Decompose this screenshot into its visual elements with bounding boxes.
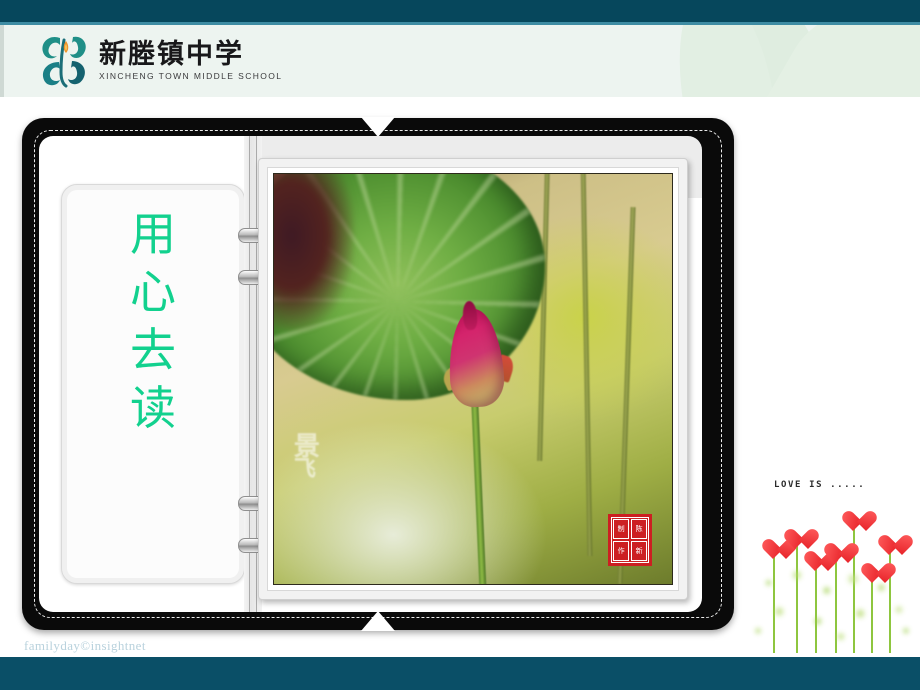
vertical-char: 心 bbox=[130, 269, 176, 315]
butterfly-logo-icon bbox=[36, 32, 90, 90]
heart-flower-icon bbox=[824, 544, 848, 566]
footer-bar bbox=[0, 657, 920, 690]
vertical-char: 去 bbox=[130, 327, 176, 373]
photo-mat: 景 飞 制 陈 作 新 bbox=[267, 167, 679, 591]
header-left-edge bbox=[0, 25, 4, 97]
heart-flower-icon bbox=[762, 540, 786, 562]
photo-dark-corner bbox=[273, 173, 354, 330]
heart-flowers-decoration: LOVE IS ..... bbox=[742, 462, 920, 658]
photo-watermark: 景 飞 bbox=[294, 436, 517, 480]
vertical-char: 用 bbox=[130, 211, 176, 257]
seal-char: 作 bbox=[613, 541, 629, 561]
seal-char: 制 bbox=[613, 519, 629, 539]
love-is-label: LOVE IS ..... bbox=[774, 480, 865, 490]
notebook-left-page: 用 心 去 读 bbox=[39, 136, 257, 612]
school-name-en: XINCHENG TOWN MIDDLE SCHOOL bbox=[99, 72, 282, 81]
school-logo: 新塍镇中学 XINCHENG TOWN MIDDLE SCHOOL bbox=[36, 32, 282, 90]
seal-char: 陈 bbox=[631, 519, 647, 539]
vertical-title-text: 用 心 去 读 bbox=[62, 211, 244, 431]
school-name-cn: 新塍镇中学 bbox=[99, 41, 282, 68]
lotus-photo-frame: 景 飞 制 陈 作 新 bbox=[258, 158, 688, 600]
vertical-char: 读 bbox=[130, 385, 176, 431]
lotus-photo: 景 飞 制 陈 作 新 bbox=[273, 173, 673, 585]
red-seal-stamp: 制 陈 作 新 bbox=[608, 514, 652, 566]
heart-flower-icon bbox=[878, 536, 904, 560]
footer-watermark: familyday©insightnet bbox=[24, 638, 146, 654]
presentation-slide: 新塍镇中学 XINCHENG TOWN MIDDLE SCHOOL 用 心 去 … bbox=[0, 0, 920, 690]
heart-flower-icon bbox=[861, 564, 883, 584]
heart-flower-icon bbox=[842, 512, 870, 538]
seal-char: 新 bbox=[631, 541, 647, 561]
left-page-card: 用 心 去 读 bbox=[61, 184, 245, 584]
photo-watermark-char2: 飞 bbox=[294, 460, 517, 480]
top-accent-bar bbox=[0, 0, 920, 22]
